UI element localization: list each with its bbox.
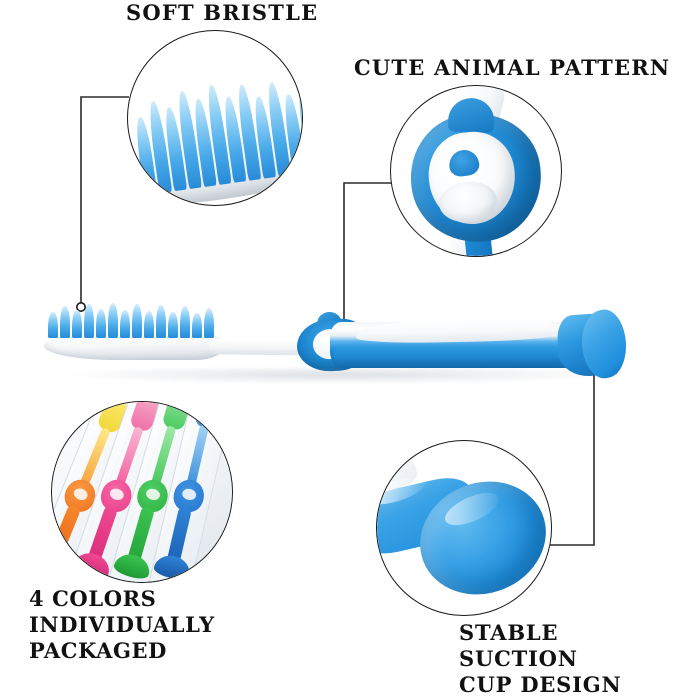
callout-circle-cute-animal [390,85,562,257]
lion-pattern-macro-image [391,86,561,256]
packaged-brushes-image [52,402,232,582]
suction-cup-macro-image [377,441,551,615]
leader-line-soft-bristle [77,97,129,311]
suction-cup [152,552,192,582]
handle-lower-blue [334,346,584,368]
product-shadow [68,368,608,384]
callout-circle-four-colors [51,401,233,583]
brush-bristles [48,300,218,338]
product-toothbrush [34,292,646,396]
suction-cup [112,550,153,581]
bristles-blue [194,402,223,430]
stem [186,425,209,487]
label-stable-suction-cup-design: STABLE SUCTION CUP DESIGN [459,620,679,698]
bristle-bank [128,60,302,195]
suction-cup [72,548,113,581]
label-four-colors-individually-packaged: 4 COLORS INDIVIDUALLY PACKAGED [29,586,215,664]
bristle-macro-image [128,31,302,205]
infographic-canvas: SOFT BRISTLE CUTE ANIMAL PATTERN 4 COLOR… [0,0,679,674]
callout-circle-suction-cup [376,440,552,616]
label-cute-animal-pattern: CUTE ANIMAL PATTERN [354,54,670,81]
label-soft-bristle: SOFT BRISTLE [126,0,318,26]
callout-circle-soft-bristle [127,30,303,206]
